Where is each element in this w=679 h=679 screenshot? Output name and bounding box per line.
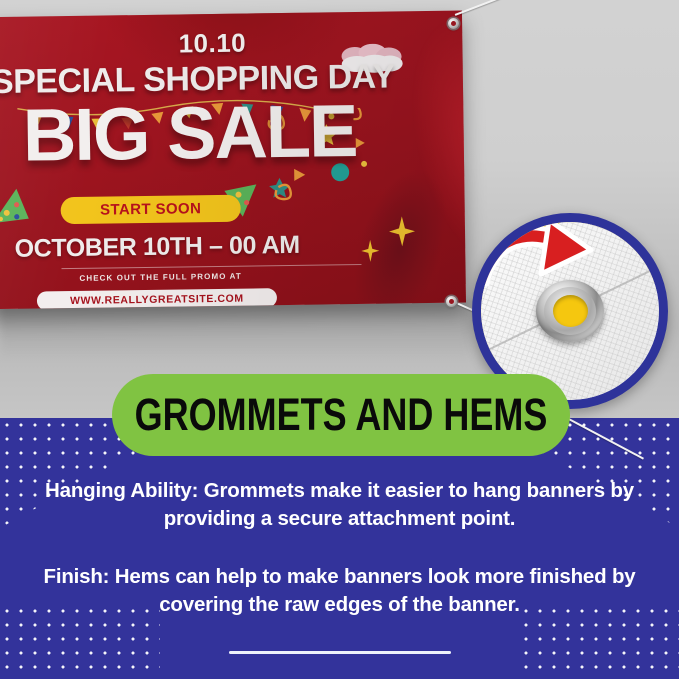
curved-arrow-icon [481,222,617,336]
poster-canvas: 10.10 SPECIAL SHOPPING DAY BIG SALE STAR… [0,0,679,679]
banner-promo-prefix: CHECK OUT THE FULL PROMO AT [0,270,326,284]
banner-cta-button[interactable]: START SOON [61,195,241,225]
party-hat-icon [0,183,35,228]
banner-drop-shadow [0,300,470,360]
sparkle-icon [389,216,415,246]
banner-grommet-bottom-right [446,296,457,307]
banner-event-time: OCTOBER 10TH – 00 AM [0,230,367,265]
banner-grommet-top-right [448,18,459,29]
section-title-pill: GROMMETS AND HEMS [112,374,570,456]
section-title-text: GROMMETS AND HEMS [158,374,524,456]
body-paragraph-hanging-ability: Hanging Ability: Grommets make it easier… [26,477,653,534]
bottom-divider [229,651,451,654]
sale-banner: 10.10 SPECIAL SHOPPING DAY BIG SALE STAR… [0,11,466,310]
banner-divider [61,264,361,269]
body-paragraph-finish: Finish: Hems can help to make banners lo… [26,563,653,620]
banner-big-text: BIG SALE [0,93,460,175]
